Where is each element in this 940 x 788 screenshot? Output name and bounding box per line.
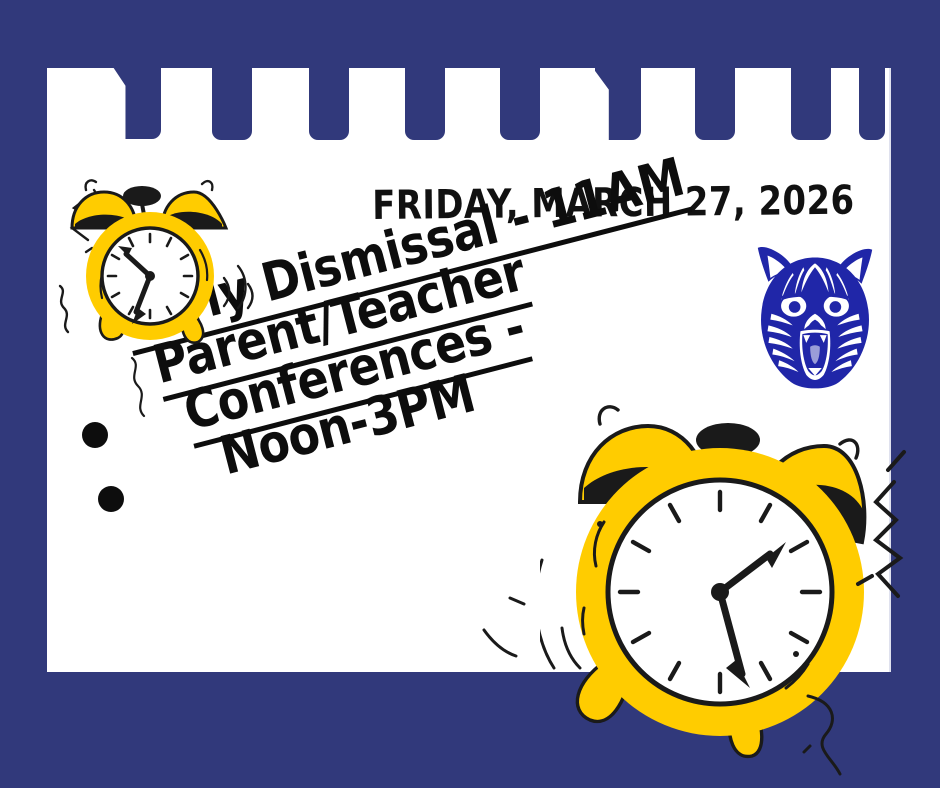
paper-notch	[859, 68, 885, 140]
motion-dash-icon	[470, 590, 540, 670]
alarm-clock-small-icon	[42, 166, 272, 366]
paper-notch	[405, 68, 445, 140]
paper-notch	[791, 68, 831, 140]
motion-squiggle-icon	[116, 352, 196, 422]
paper-notch	[309, 68, 349, 140]
motion-squiggle-icon	[778, 678, 888, 788]
paper-notch	[500, 68, 540, 140]
paper-notch	[595, 68, 641, 140]
announcement-poster: FRIDAY, MARCH 27, 2026 Early Dismissal -…	[0, 0, 940, 788]
wildcat-mascot-icon	[742, 242, 888, 402]
paper-notch	[695, 68, 735, 140]
paper-notch	[212, 68, 252, 140]
list-bullet	[82, 422, 108, 448]
motion-zigzag-icon	[846, 448, 940, 608]
paper-notch	[113, 67, 161, 139]
list-bullet	[98, 486, 124, 512]
